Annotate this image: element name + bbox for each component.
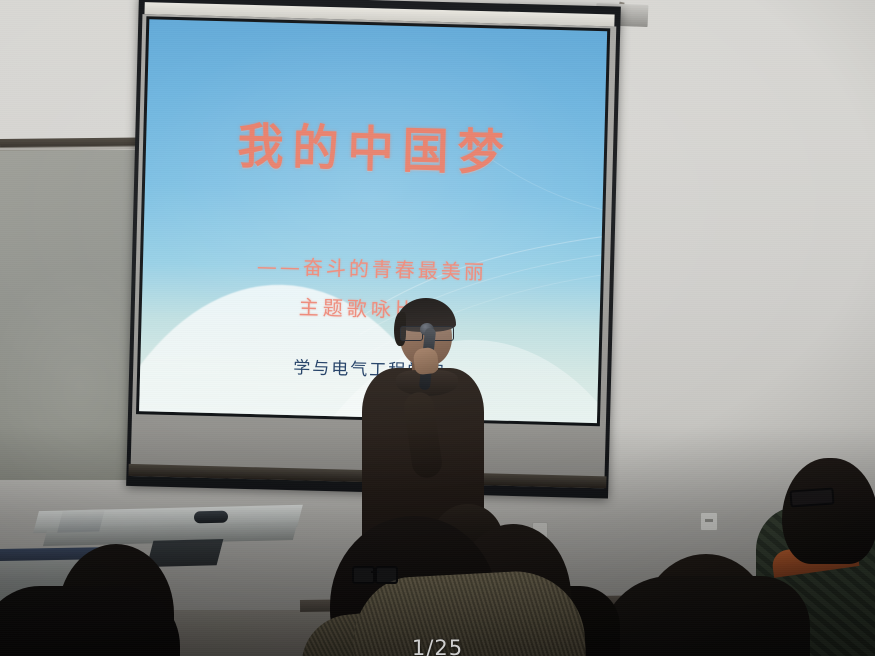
photo-viewer: 我的中国梦 ——奋斗的青春最美丽 主题歌咏比赛 学与电气工程学院 [0, 0, 875, 656]
room-vignette [0, 0, 875, 656]
page-indicator: 1/25 [0, 636, 875, 656]
